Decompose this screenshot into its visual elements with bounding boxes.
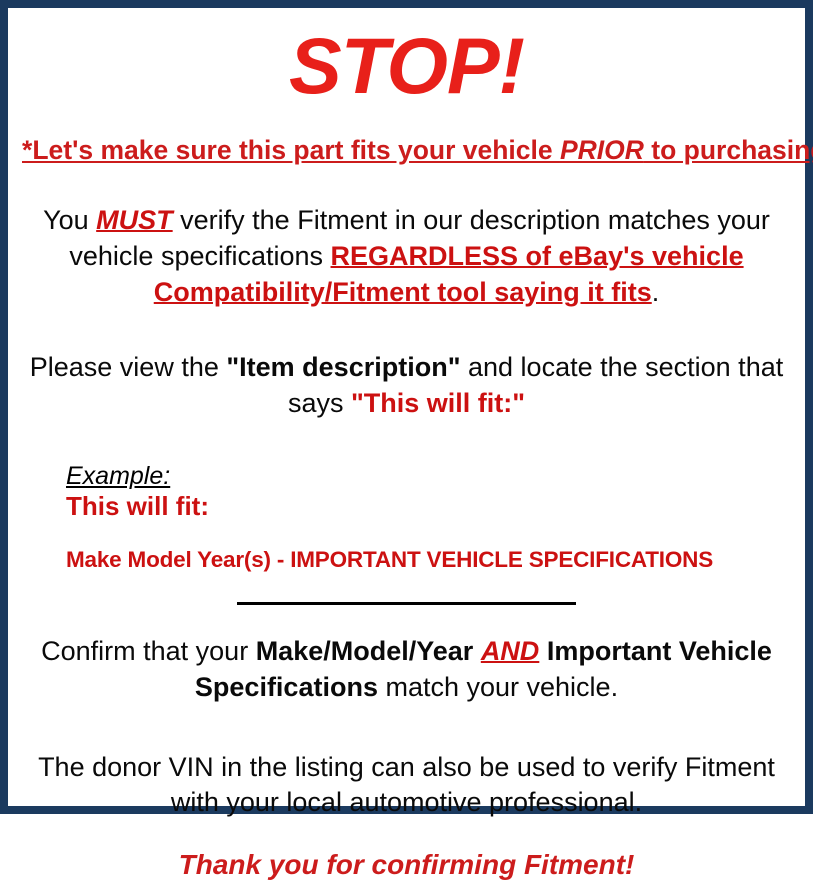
donor-vin-paragraph: The donor VIN in the listing can also be… <box>22 750 791 821</box>
tagline: *Let's make sure this part fits your veh… <box>22 135 791 165</box>
must-emphasis: MUST <box>96 205 173 235</box>
notice-inner: STOP! *Let's make sure this part fits yo… <box>8 8 805 806</box>
tagline-prefix: *Let's make sure this part fits your veh… <box>22 135 560 165</box>
desc-this-will-fit-quote: "This will fit:" <box>351 388 525 418</box>
confirm-and-emphasis: AND <box>481 636 540 666</box>
stop-headline: STOP! <box>22 26 791 105</box>
confirm-seg-tail: match your vehicle. <box>378 672 618 702</box>
tagline-suffix: to purchasing* <box>644 135 813 165</box>
desc-item-description-quote: "Item description" <box>226 352 460 382</box>
tagline-emphasis-prior: PRIOR <box>560 135 644 165</box>
example-block: Example: This will fit: Make Model Year(… <box>22 462 791 574</box>
example-label: Example: <box>66 462 170 490</box>
example-will-fit-heading: This will fit: <box>66 491 791 522</box>
example-label-row: Example: <box>66 462 791 490</box>
must-seg-lead: You <box>43 205 96 235</box>
confirm-seg-lead: Confirm that your <box>41 636 256 666</box>
item-description-paragraph: Please view the "Item description" and l… <box>22 350 791 421</box>
confirm-paragraph: Confirm that your Make/Model/Year AND Im… <box>22 634 791 705</box>
example-spec-line: Make Model Year(s) - IMPORTANT VEHICLE S… <box>66 547 791 573</box>
must-seg-period: . <box>652 277 660 307</box>
fitment-notice-card: STOP! *Let's make sure this part fits yo… <box>0 0 813 814</box>
thank-you-line: Thank you for confirming Fitment! <box>22 849 791 881</box>
must-verify-paragraph: You MUST verify the Fitment in our descr… <box>22 203 791 310</box>
divider-wrapper <box>22 602 791 606</box>
section-divider <box>237 602 576 605</box>
confirm-make-model-year: Make/Model/Year <box>256 636 474 666</box>
desc-seg-lead: Please view the <box>30 352 227 382</box>
